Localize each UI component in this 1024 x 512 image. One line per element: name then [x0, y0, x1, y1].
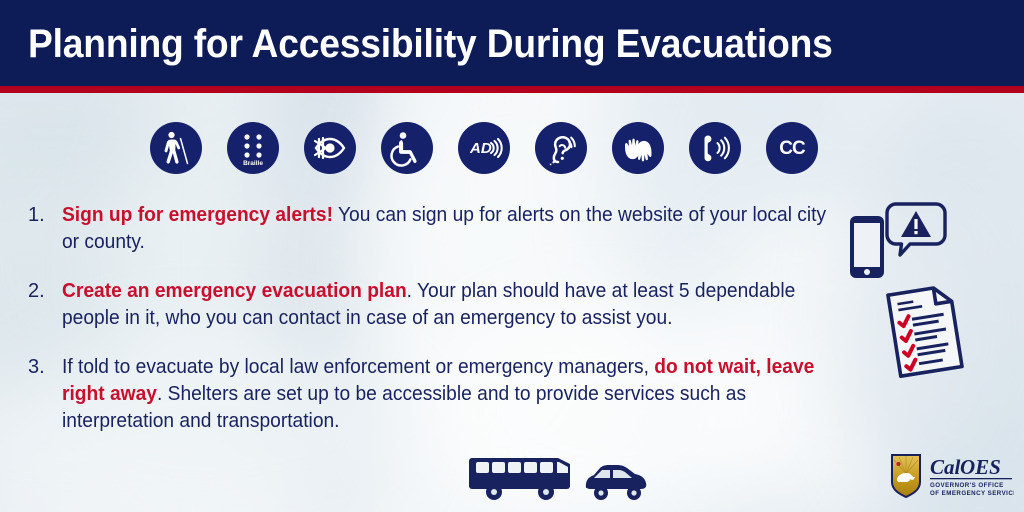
blind-cane-icon	[150, 122, 202, 174]
logo-tagline-line2: OF EMERGENCY SERVICES	[930, 490, 1014, 497]
header-band: Planning for Accessibility During Evacua…	[0, 0, 1024, 86]
cc-caption: CC	[779, 138, 806, 159]
wheelchair-icon	[381, 122, 433, 174]
bus-illustration	[469, 458, 570, 500]
ad-caption: AD	[469, 140, 492, 157]
tips-list: 1. Sign up for emergency alerts! You can…	[28, 202, 868, 457]
braille-caption: Braille	[243, 160, 263, 167]
list-item-number: 1.	[28, 202, 62, 256]
list-item-number: 3.	[28, 354, 62, 435]
sign-language-icon	[612, 122, 664, 174]
header-accent-rule	[0, 86, 1024, 93]
assistive-listening-icon	[535, 122, 587, 174]
vehicles-illustration	[468, 448, 658, 511]
audio-description-icon: AD	[458, 122, 510, 174]
list-item: 2. Create an emergency evacuation plan. …	[28, 278, 868, 332]
emphasis-text: Create an emergency evacuation plan	[62, 280, 407, 302]
list-item: 3. If told to evacuate by local law enfo…	[28, 354, 868, 435]
tty-phone-icon	[689, 122, 741, 174]
logo-wordmark-oes: OES	[960, 455, 1001, 479]
accessibility-icon-strip: Braille AD	[150, 122, 818, 174]
body-text: . Shelters are set up to be accessible a…	[62, 383, 746, 432]
low-vision-icon	[304, 122, 356, 174]
list-item-text: If told to evacuate by local law enforce…	[62, 354, 836, 435]
caloes-shield-icon	[892, 455, 920, 497]
checklist-illustration	[872, 282, 976, 385]
closed-caption-icon: CC	[766, 122, 818, 174]
list-item: 1. Sign up for emergency alerts! You can…	[28, 202, 868, 256]
list-item-text: Create an emergency evacuation plan. You…	[62, 278, 836, 332]
logo-tagline-line1: GOVERNOR'S OFFICE	[930, 482, 1004, 489]
braille-icon: Braille	[227, 122, 279, 174]
logo-wordmark-cal: Cal	[930, 455, 961, 479]
list-item-number: 2.	[28, 278, 62, 332]
list-item-text: Sign up for emergency alerts! You can si…	[62, 202, 836, 256]
car-illustration	[586, 465, 646, 500]
infographic-poster: Planning for Accessibility During Evacua…	[0, 0, 1024, 512]
caloes-logo: Cal OES GOVERNOR'S OFFICE OF EMERGENCY S…	[890, 452, 1014, 507]
body-text: If told to evacuate by local law enforce…	[62, 356, 654, 378]
phone-alert-illustration	[838, 198, 948, 288]
emphasis-text: Sign up for emergency alerts!	[62, 204, 333, 226]
page-title: Planning for Accessibility During Evacua…	[28, 22, 833, 67]
